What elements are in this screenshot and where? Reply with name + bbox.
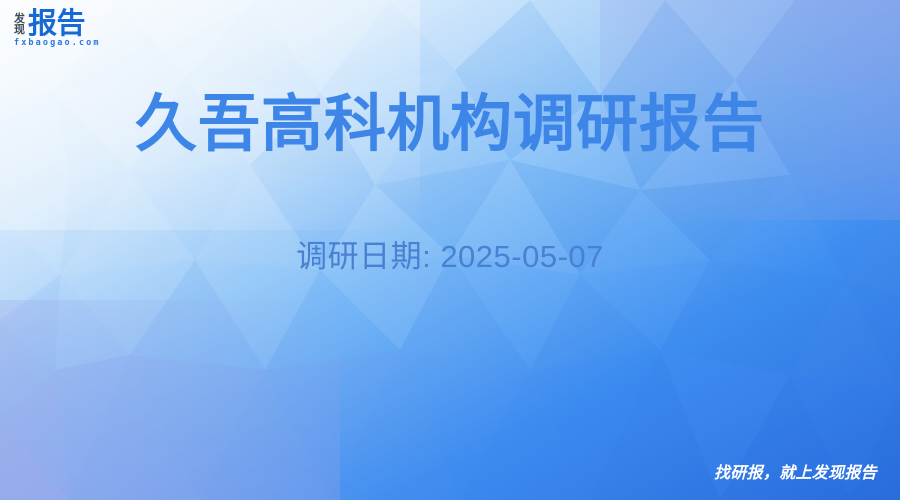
brand-url: fxbaogao.com bbox=[14, 38, 101, 48]
brand-logo-stacked-chars: 发 现 bbox=[14, 13, 25, 37]
brand-logo-row: 发 现 报告 bbox=[14, 10, 85, 37]
survey-date-subtitle: 调研日期: 2025-05-07 bbox=[0, 231, 900, 276]
brand-tagline: 找研报，就上发现报告 bbox=[714, 459, 877, 483]
brand-char-xian: 现 bbox=[14, 24, 25, 35]
brand-wordmark: 报告 bbox=[28, 10, 85, 37]
report-cover-page: 发 现 报告 fxbaogao.com 久吾高科机构调研报告 调研日期: 202… bbox=[0, 0, 900, 500]
page-title: 久吾高科机构调研报告 bbox=[0, 88, 900, 159]
brand-logo[interactable]: 发 现 报告 fxbaogao.com bbox=[14, 10, 101, 48]
